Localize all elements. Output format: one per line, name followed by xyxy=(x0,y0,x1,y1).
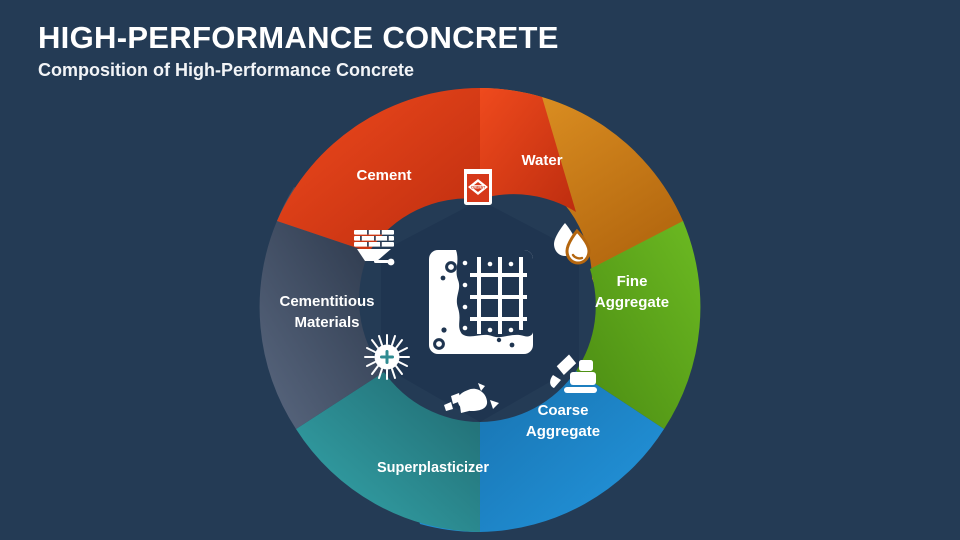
cement-bag-icon: CEMENT xyxy=(464,169,492,205)
page-title: HIGH-PERFORMANCE CONCRETE xyxy=(38,20,559,56)
slide-canvas: HIGH-PERFORMANCE CONCRETE Composition of… xyxy=(0,0,960,540)
label-water: Water xyxy=(521,152,562,169)
label-cementitious-materials-line2: Materials xyxy=(294,314,359,331)
label-cement: Cement xyxy=(356,167,411,184)
label-fine-aggregate-line2: Aggregate xyxy=(595,294,669,311)
label-coarse-aggregate-line2: Aggregate xyxy=(526,423,600,440)
concrete-rebar-cross-section-icon xyxy=(429,250,533,354)
page-subtitle: Composition of High-Performance Concrete xyxy=(38,60,414,81)
svg-text:CEMENT: CEMENT xyxy=(471,185,486,189)
label-superplasticizer: Superplasticizer xyxy=(377,460,489,476)
composition-pinwheel-diagram: CEMENT xyxy=(224,82,736,540)
label-cementitious-materials-line1: Cementitious xyxy=(279,293,374,310)
label-coarse-aggregate-line1: Coarse xyxy=(538,402,589,419)
label-fine-aggregate-line1: Fine xyxy=(617,273,648,290)
